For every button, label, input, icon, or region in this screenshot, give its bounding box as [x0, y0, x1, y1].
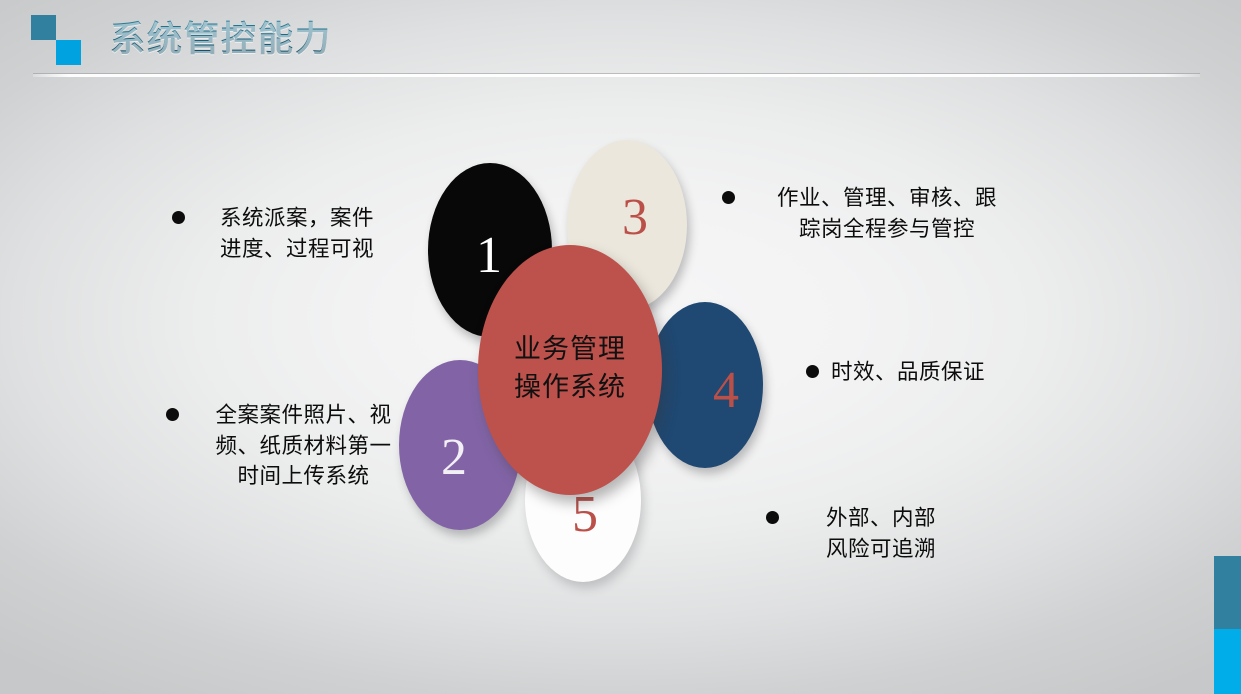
bullet-icon — [766, 511, 779, 524]
petal-4[interactable]: 4 — [647, 302, 763, 468]
bullet-icon — [172, 211, 185, 224]
petal-2-number: 2 — [441, 432, 467, 484]
callout-risk-traceability: 外部、内部 风险可追溯 — [766, 503, 986, 564]
callout-3-text: 作业、管理、审核、跟 踪岗全程参与管控 — [747, 183, 1027, 244]
callout-1-text: 系统派案，案件 进度、过程可视 — [197, 203, 397, 264]
petal-diagram: 1 3 4 2 5 业务管理 操作系统 — [0, 0, 1241, 694]
petal-center-label: 业务管理 操作系统 — [514, 330, 626, 407]
callout-2-text: 全案案件照片、视 频、纸质材料第一 时间上传系统 — [191, 400, 416, 492]
callout-system-dispatch: 系统派案，案件 进度、过程可视 — [172, 203, 412, 264]
slide-canvas: 系统管控能力 1 3 4 2 5 业务管理 操作系统 系统派案，案件 进度、过程… — [0, 0, 1241, 694]
callout-media-upload: 全案案件照片、视 频、纸质材料第一 时间上传系统 — [166, 400, 422, 492]
edge-accent-cyan — [1214, 629, 1241, 694]
petal-center[interactable]: 业务管理 操作系统 — [478, 245, 662, 495]
petal-5-number: 5 — [572, 489, 598, 541]
petal-4-number: 4 — [713, 365, 739, 417]
callout-full-process-control: 作业、管理、审核、跟 踪岗全程参与管控 — [722, 183, 1042, 244]
bullet-icon — [806, 365, 819, 378]
petal-1-number: 1 — [476, 230, 502, 282]
petal-3-number: 3 — [622, 192, 648, 244]
bullet-icon — [166, 408, 179, 421]
callout-5-text: 外部、内部 风险可追溯 — [791, 503, 971, 564]
callout-4-text: 时效、品质保证 — [831, 357, 1031, 388]
edge-accent-bar — [1214, 556, 1241, 694]
edge-accent-teal — [1214, 556, 1241, 629]
bullet-icon — [722, 191, 735, 204]
callout-quality-assurance: 时效、品质保证 — [806, 357, 1046, 388]
